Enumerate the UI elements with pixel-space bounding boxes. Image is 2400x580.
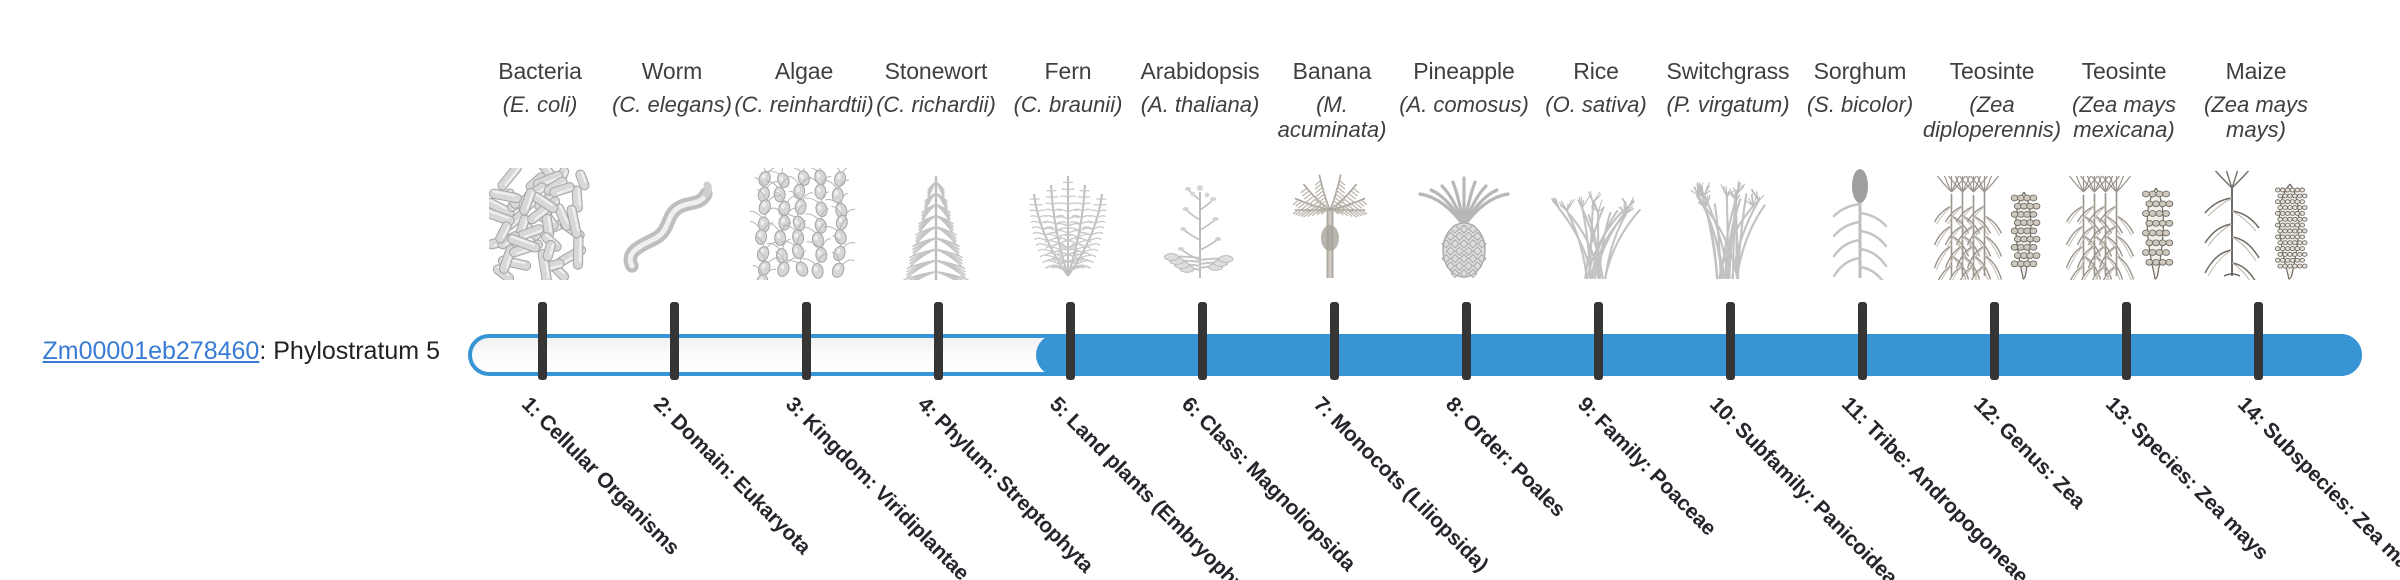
teosinte-diploperennis-illustration: [1922, 170, 2062, 280]
species-common-name: Teosinte: [2054, 58, 2194, 84]
arabidopsis-rosette-illustration: [1130, 170, 1270, 280]
species-column: Arabidopsis(A. thaliana) 6: Class: Magno…: [1130, 0, 1270, 580]
timeline-tick: [1066, 302, 1075, 380]
species-common-name: Sorghum: [1790, 58, 1930, 84]
species-latin-name: (C. reinhardtii): [734, 92, 874, 117]
species-column: Teosinte(Zea diploperennis): [1922, 0, 2062, 580]
species-column: Bacteria(E. coli): [470, 0, 610, 580]
timeline-tick: [2254, 302, 2263, 380]
species-latin-name: (M. acuminata): [1262, 92, 1402, 142]
gene-label: Zm00001eb278460: Phylostratum 5: [0, 336, 440, 366]
rice-plant-illustration: [1526, 170, 1666, 280]
species-common-name: Bacteria: [470, 58, 610, 84]
timeline-tick: [934, 302, 943, 380]
species-column: Worm(C. elegans) 2: Domain: Eukaryota: [602, 0, 742, 580]
species-latin-name: (S. bicolor): [1790, 92, 1930, 117]
maize-illustration: [2186, 170, 2326, 280]
species-latin-name: (A. comosus): [1394, 92, 1534, 117]
stonewort-illustration: [866, 170, 1006, 280]
species-column: Stonewort(C. richardii)4: Phylum: Strept…: [866, 0, 1006, 580]
timeline-tick: [1462, 302, 1471, 380]
timeline-tick: [1990, 302, 1999, 380]
nematode-worm-illustration: [602, 170, 742, 280]
species-latin-name: (C. braunii): [998, 92, 1138, 117]
timeline-tick: [538, 302, 547, 380]
timeline-tick: [2122, 302, 2131, 380]
taxonomy-rank-label: 14: Subspecies: Zea mays mays: [2232, 392, 2400, 580]
species-column: Sorghum(S. bicolor)11: Tribe: Andropogon…: [1790, 0, 1930, 580]
species-common-name: Pineapple: [1394, 58, 1534, 84]
species-latin-name: (C. richardii): [866, 92, 1006, 117]
species-latin-name: (E. coli): [470, 92, 610, 117]
species-common-name: Banana: [1262, 58, 1402, 84]
sorghum-illustration: [1790, 170, 1930, 280]
gene-label-separator: :: [259, 337, 273, 365]
species-latin-name: (Zea mays mexicana): [2054, 92, 2194, 142]
species-column: Switchgrass(P. virgatum)10: Subfamily: P…: [1658, 0, 1798, 580]
species-latin-name: (P. virgatum): [1658, 92, 1798, 117]
species-column: Banana(M. acuminata) 7: Monocots (Liliop…: [1262, 0, 1402, 580]
teosinte-mexicana-illustration: [2054, 170, 2194, 280]
phylostratum-timeline-figure: Zm00001eb278460: Phylostratum 5 Bacteria…: [0, 0, 2400, 580]
species-column: Algae(C. reinhardtii): [734, 0, 874, 580]
species-latin-name: (A. thaliana): [1130, 92, 1270, 117]
species-common-name: Maize: [2186, 58, 2326, 84]
species-column: Pineapple(A. comosus)8: Order: Poales: [1394, 0, 1534, 580]
species-common-name: Fern: [998, 58, 1138, 84]
species-column: Rice(O. sativa)9: Family: Poaceae: [1526, 0, 1666, 580]
timeline-tick: [1198, 302, 1207, 380]
switchgrass-illustration: [1658, 170, 1798, 280]
species-common-name: Stonewort: [866, 58, 1006, 84]
pineapple-illustration: [1394, 170, 1534, 280]
timeline-tick: [1330, 302, 1339, 380]
species-latin-name: (C. elegans): [602, 92, 742, 117]
timeline-tick: [1726, 302, 1735, 380]
fern-frond-illustration: [998, 170, 1138, 280]
timeline-tick: [1858, 302, 1867, 380]
species-column: Fern(C. braunii): [998, 0, 1138, 580]
species-common-name: Worm: [602, 58, 742, 84]
timeline-tick: [670, 302, 679, 380]
species-latin-name: (O. sativa): [1526, 92, 1666, 117]
species-common-name: Teosinte: [1922, 58, 2062, 84]
gene-id-link[interactable]: Zm00001eb278460: [42, 337, 259, 365]
bacteria-rods-illustration: [470, 170, 610, 280]
species-column: Teosinte(Zea mays mexicana): [2054, 0, 2194, 580]
species-column: Maize(Zea mays mays) 14: Subspecies: Zea…: [2186, 0, 2326, 580]
phylostratum-value: Phylostratum 5: [273, 337, 440, 365]
species-latin-name: (Zea mays mays): [2186, 92, 2326, 142]
species-common-name: Rice: [1526, 58, 1666, 84]
species-latin-name: (Zea diploperennis): [1922, 92, 2062, 142]
chlamydomonas-algae-illustration: [734, 170, 874, 280]
banana-plant-illustration: [1262, 170, 1402, 280]
species-common-name: Arabidopsis: [1130, 58, 1270, 84]
species-common-name: Algae: [734, 58, 874, 84]
species-common-name: Switchgrass: [1658, 58, 1798, 84]
timeline-tick: [1594, 302, 1603, 380]
timeline-tick: [802, 302, 811, 380]
